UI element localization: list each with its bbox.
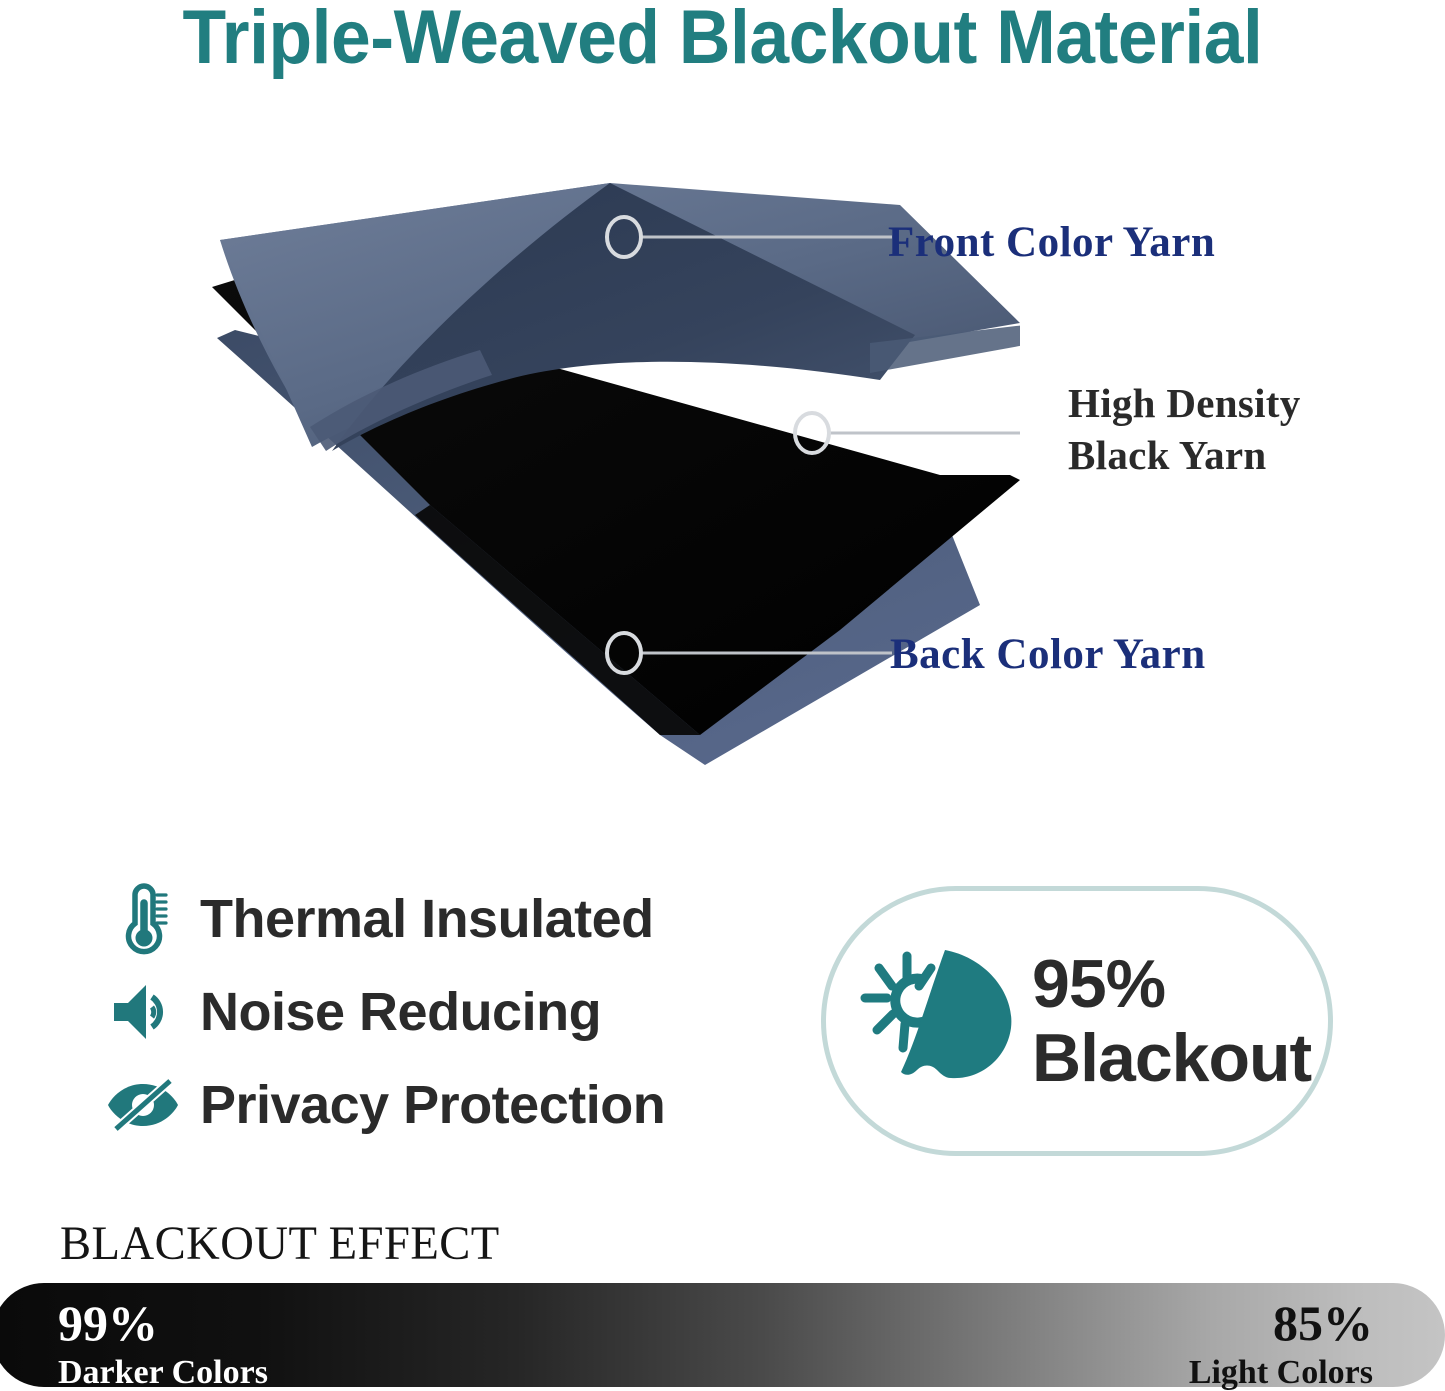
blackout-effect-darker-colors: 99% Darker Colors [58, 1298, 268, 1390]
sun-behind-curtain-icon [854, 941, 1024, 1101]
feature-label-privacy-protection: Privacy Protection [200, 1074, 665, 1136]
feature-item-noise-reducing: Noise Reducing [104, 965, 804, 1058]
blackout-percent-value: 95% [1032, 950, 1311, 1018]
darker-colors-percent: 99% [58, 1298, 268, 1348]
callout-label-high-density-black-yarn: High Density Black Yarn [1068, 378, 1301, 481]
feature-label-thermal-insulated: Thermal Insulated [200, 888, 654, 950]
speaker-sound-icon [104, 973, 182, 1051]
light-colors-percent: 85% [1189, 1298, 1373, 1348]
callout-label-back-color-yarn: Back Color Yarn [890, 630, 1206, 679]
feature-label-noise-reducing: Noise Reducing [200, 981, 601, 1043]
blackout-effect-heading: BLACKOUT EFFECT [60, 1216, 500, 1271]
feature-item-thermal-insulated: Thermal Insulated [104, 872, 804, 965]
blackout-badge-text: 95% Blackout [1032, 950, 1311, 1092]
blackout-effect-light-colors: 85% Light Colors [1189, 1298, 1373, 1390]
thermometer-icon [104, 880, 182, 958]
feature-item-privacy-protection: Privacy Protection [104, 1058, 804, 1151]
callout-label-line-1: High Density [1068, 378, 1301, 430]
darker-colors-label: Darker Colors [58, 1356, 268, 1390]
feature-list: Thermal Insulated Noise Reducing Privacy… [104, 872, 804, 1151]
page-title: Triple-Weaved Blackout Material [43, 0, 1401, 80]
eye-slash-icon [104, 1066, 182, 1144]
callout-label-front-color-yarn: Front Color Yarn [888, 218, 1215, 267]
blackout-percentage-badge: 95% Blackout [821, 886, 1333, 1156]
blackout-word: Blackout [1032, 1024, 1311, 1092]
callout-label-line-2: Black Yarn [1068, 430, 1301, 482]
light-colors-label: Light Colors [1189, 1356, 1373, 1390]
